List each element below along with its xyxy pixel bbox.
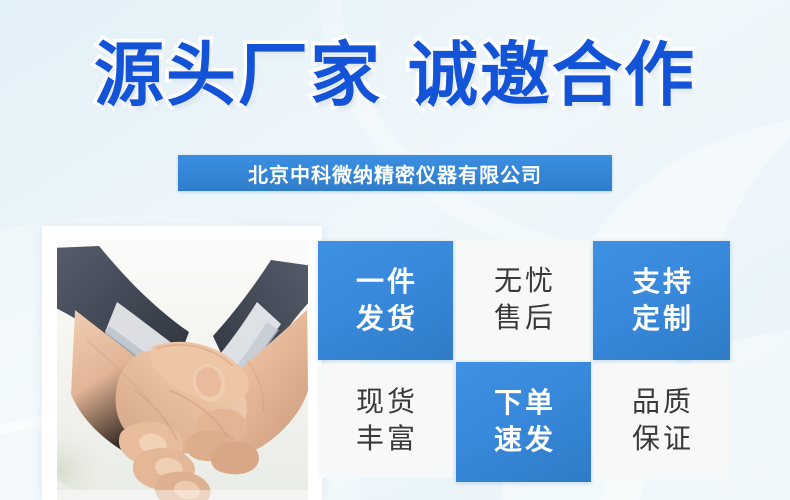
feature-line-1: 无忧 <box>491 263 556 300</box>
headline-part-1: 源头厂家 <box>94 34 382 116</box>
headline-part-2: 诚邀合作 <box>408 34 696 116</box>
feature-line-2: 保证 <box>629 421 694 458</box>
feature-line-1: 现货 <box>353 384 418 421</box>
promo-banner: 源头厂家诚邀合作 北京中科微纳精密仪器有限公司 <box>0 0 790 500</box>
handshake-photo <box>57 240 308 500</box>
feature-line-2: 速发 <box>491 422 556 459</box>
feature-cell-one-piece-shipping[interactable]: 一件 发货 <box>318 241 453 360</box>
headline-container: 源头厂家诚邀合作 <box>0 38 790 114</box>
company-name: 北京中科微纳精密仪器有限公司 <box>248 159 542 188</box>
feature-line-1: 下单 <box>491 385 556 422</box>
feature-line-2: 定制 <box>629 301 694 338</box>
feature-line-2: 发货 <box>353 301 418 338</box>
feature-cell-customization-support[interactable]: 支持 定制 <box>593 241 730 360</box>
feature-line-1: 品质 <box>629 384 694 421</box>
feature-grid: 一件 发货 无忧 售后 支持 定制 现货 丰富 下单 速发 品质 保证 <box>318 240 730 482</box>
feature-cell-fast-dispatch[interactable]: 下单 速发 <box>456 362 591 482</box>
feature-line-1: 一件 <box>353 264 418 301</box>
feature-cell-ample-stock[interactable]: 现货 丰富 <box>318 364 453 478</box>
feature-line-1: 支持 <box>629 264 694 301</box>
feature-line-2: 售后 <box>491 300 556 337</box>
feature-cell-quality-guarantee[interactable]: 品质 保证 <box>593 364 730 478</box>
feature-line-2: 丰富 <box>353 421 418 458</box>
company-name-bar: 北京中科微纳精密仪器有限公司 <box>178 155 612 191</box>
feature-cell-worry-free-service[interactable]: 无忧 售后 <box>456 240 591 360</box>
page-title: 源头厂家诚邀合作 <box>94 38 696 114</box>
